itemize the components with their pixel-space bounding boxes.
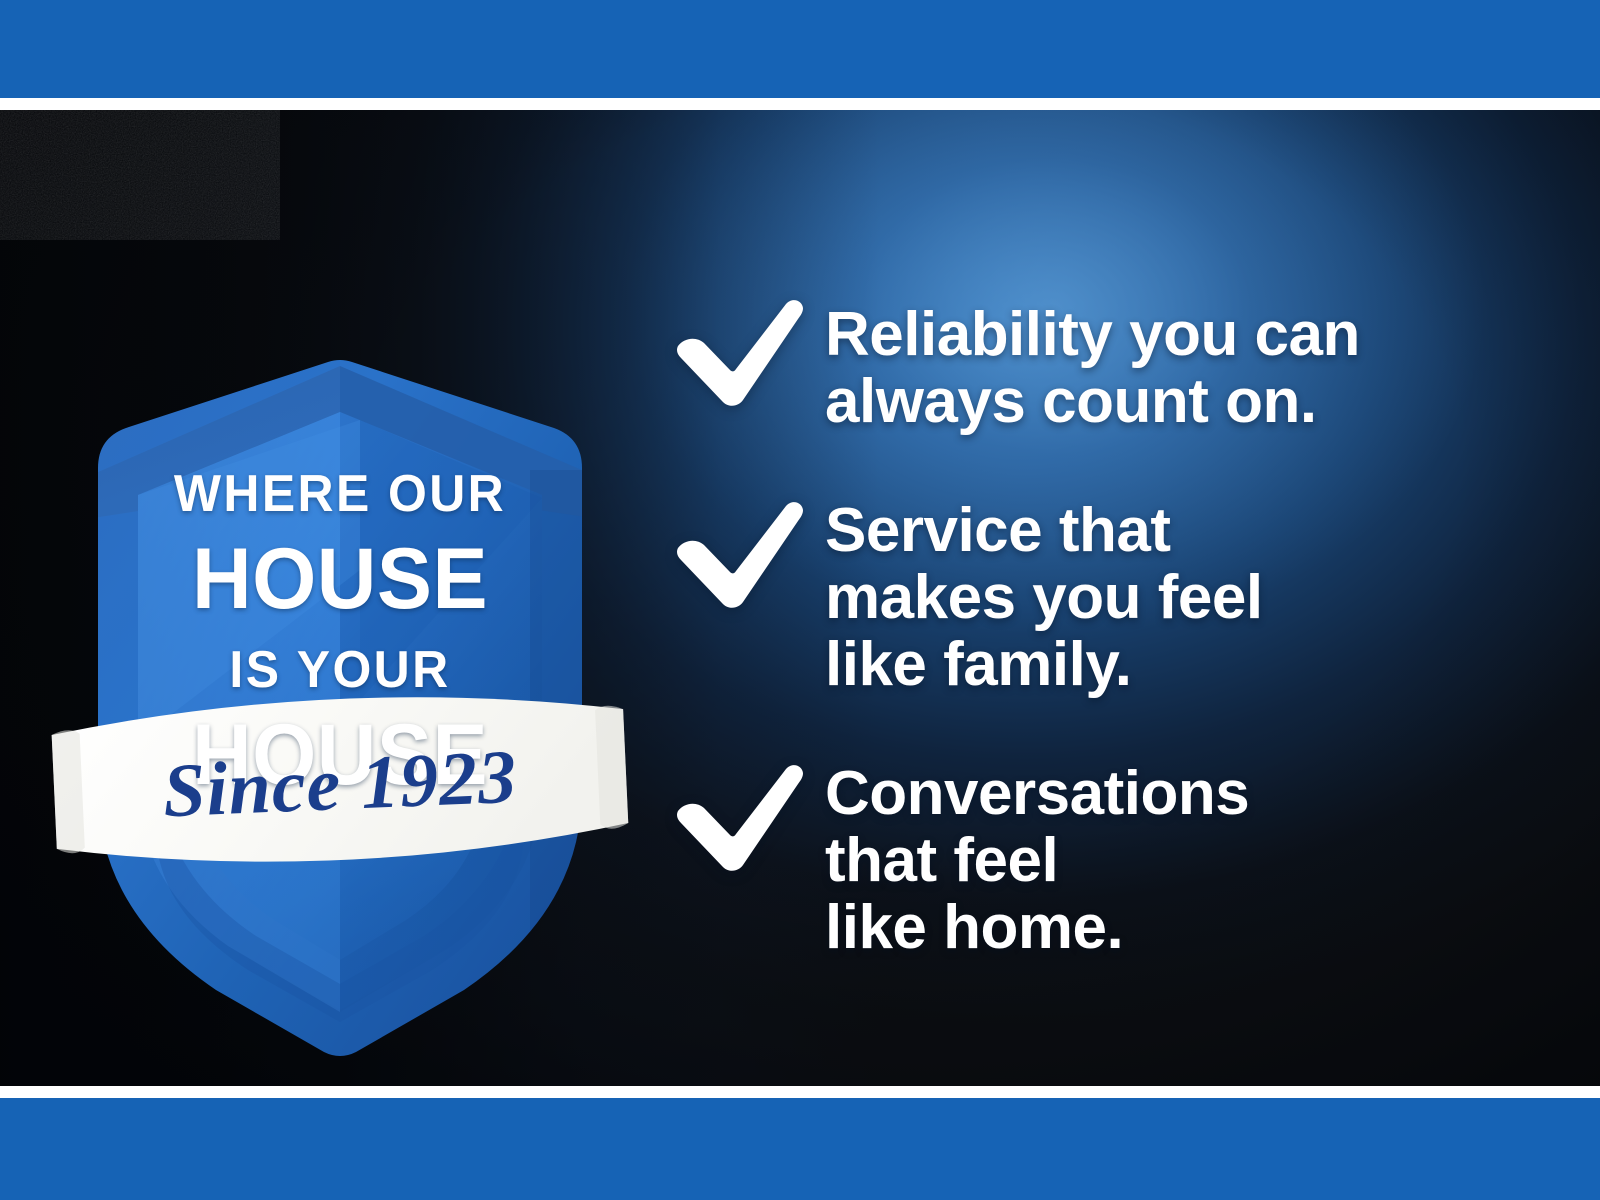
checkmark-icon (660, 759, 825, 877)
benefit-text: Reliability you can always count on. (825, 300, 1540, 436)
bottom-brand-bar (0, 1098, 1600, 1200)
benefit-item: Service that makes you feel like family. (660, 496, 1540, 699)
top-white-divider (0, 98, 1600, 110)
promo-graphic: WHERE OUR HOUSE IS YOUR HOUSE Since 1923… (0, 0, 1600, 1200)
main-stage: WHERE OUR HOUSE IS YOUR HOUSE Since 1923… (0, 110, 1600, 1086)
bottom-white-divider (0, 1086, 1600, 1098)
top-brand-bar (0, 0, 1600, 98)
benefits-list: Reliability you can always count on. Ser… (660, 300, 1540, 1022)
benefit-text: Service that makes you feel like family. (825, 496, 1540, 699)
benefit-item: Conversations that feel like home. (660, 759, 1540, 962)
shield-badge: WHERE OUR HOUSE IS YOUR HOUSE Since 1923 (60, 270, 620, 1060)
checkmark-icon (660, 496, 825, 614)
benefit-text: Conversations that feel like home. (825, 759, 1540, 962)
checkmark-icon (660, 300, 825, 418)
benefit-item: Reliability you can always count on. (660, 300, 1540, 436)
